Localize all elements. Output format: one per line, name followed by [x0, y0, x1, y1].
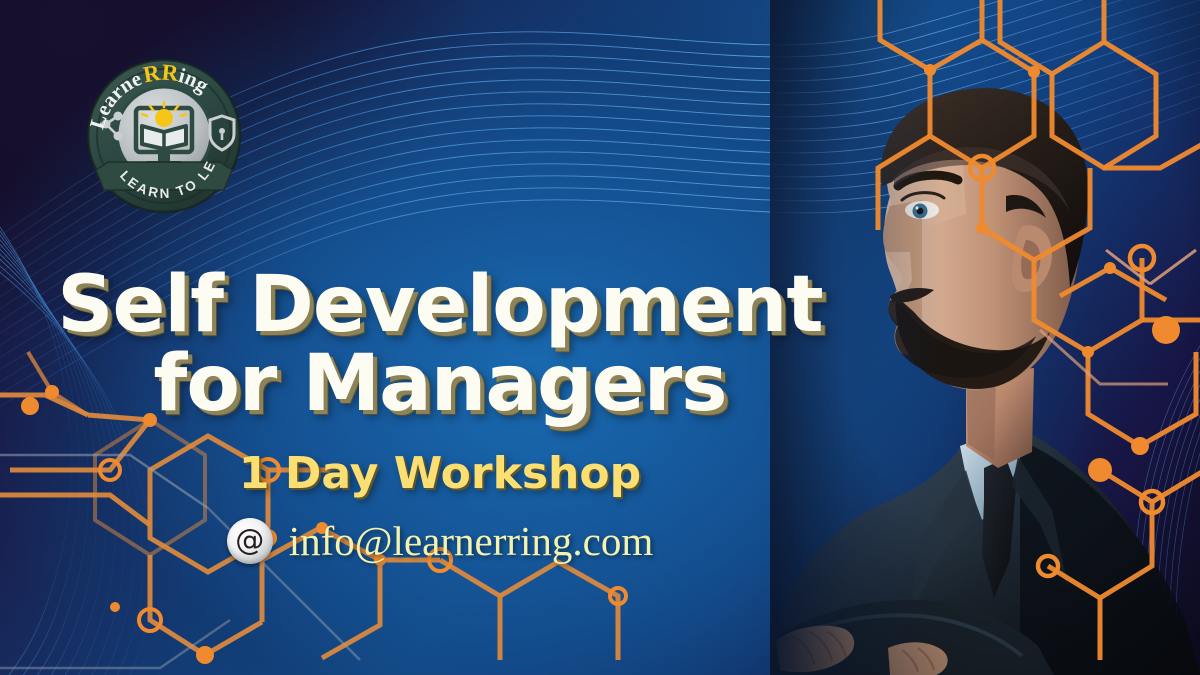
workshop-subtitle: 1 Day Workshop [0, 448, 880, 499]
at-icon: @ [227, 518, 273, 564]
contact-email-row[interactable]: @ info@learnerring.com [0, 517, 880, 565]
learnerring-logo[interactable]: Learne RR ing LEARN TO LEAD [78, 50, 250, 222]
sun-icon [155, 109, 173, 127]
event-poster: Learne RR ing LEARN TO LEAD Self Develop… [0, 0, 1200, 675]
contact-email-text[interactable]: info@learnerring.com [289, 517, 653, 565]
page-title-line-2: for Managers [0, 347, 880, 422]
page-title-line-1: Self Development [0, 268, 880, 343]
poster-text-block: Self Development for Managers 1 Day Work… [0, 268, 880, 565]
